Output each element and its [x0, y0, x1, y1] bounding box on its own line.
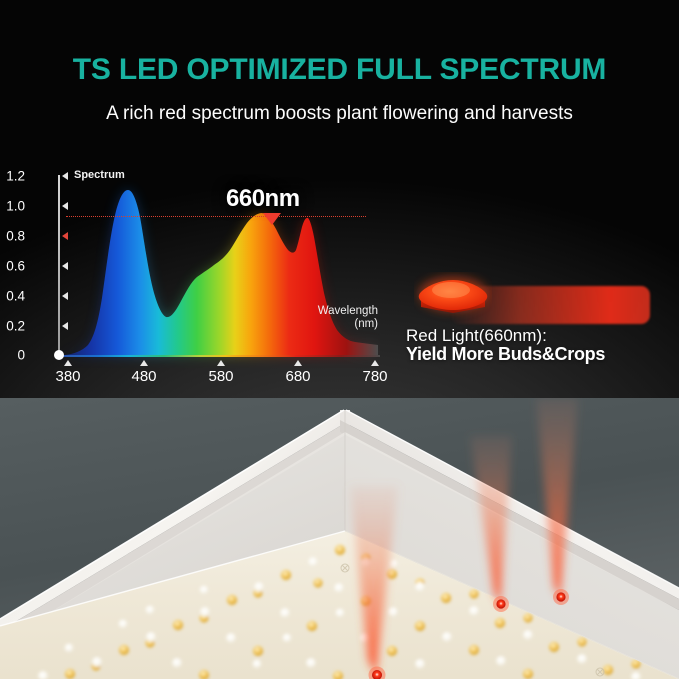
y-tick-0_4	[62, 292, 68, 300]
origin-dot	[54, 350, 64, 360]
x-axis	[58, 355, 380, 357]
y-tick-1_2	[62, 172, 68, 180]
x-axis-title: Wavelength (nm)	[318, 305, 378, 331]
x-label-580: 580	[208, 368, 233, 385]
y-label-1_2: 1.2	[6, 169, 25, 184]
y-axis-title: Spectrum	[74, 169, 125, 181]
y-label-0_8: 0.8	[6, 229, 25, 244]
y-tick-0_6	[62, 262, 68, 270]
peak-annotation-label: 660nm	[226, 185, 300, 213]
red-light-callout: Red Light(660nm): Yield More Buds&Crops	[400, 268, 670, 373]
x-label-380: 380	[55, 368, 80, 385]
x-label-480: 480	[131, 368, 156, 385]
y-label-0_2: 0.2	[6, 319, 25, 334]
y-axis	[58, 175, 60, 357]
y-label-0: 0	[17, 348, 25, 363]
top-dark-section: TS LED OPTIMIZED FULL SPECTRUM A rich re…	[0, 0, 679, 400]
spectrum-chart: 1.2 1.0 0.8 0.6 0.4 0.2 0 380 480 580 68…	[30, 165, 380, 380]
reference-line-0_8	[66, 216, 366, 217]
callout-line-2: Yield More Buds&Crops	[406, 344, 605, 365]
grow-light-panel-illustration	[0, 398, 679, 679]
y-label-0_6: 0.6	[6, 259, 25, 274]
x-tick-480	[140, 360, 148, 366]
x-tick-580	[217, 360, 225, 366]
x-axis-title-text: Wavelength	[318, 305, 378, 318]
down-triangle-icon	[263, 213, 281, 225]
page-subtitle: A rich red spectrum boosts plant floweri…	[0, 103, 679, 125]
promo-image: TS LED OPTIMIZED FULL SPECTRUM A rich re…	[0, 0, 679, 679]
y-label-1_0: 1.0	[6, 199, 25, 214]
led-chip-icon	[414, 272, 492, 324]
x-label-680: 680	[285, 368, 310, 385]
y-label-0_4: 0.4	[6, 289, 25, 304]
x-tick-780	[371, 360, 379, 366]
x-tick-380	[64, 360, 72, 366]
x-axis-unit-text: (nm)	[318, 318, 378, 331]
callout-line-1: Red Light(660nm):	[406, 326, 547, 346]
spectrum-curve	[30, 165, 380, 380]
page-title: TS LED OPTIMIZED FULL SPECTRUM	[0, 53, 679, 87]
x-label-780: 780	[362, 368, 387, 385]
x-tick-680	[294, 360, 302, 366]
y-tick-1_0	[62, 202, 68, 210]
product-photo-section	[0, 398, 679, 679]
y-tick-0_2	[62, 322, 68, 330]
y-tick-0_8	[62, 232, 68, 240]
